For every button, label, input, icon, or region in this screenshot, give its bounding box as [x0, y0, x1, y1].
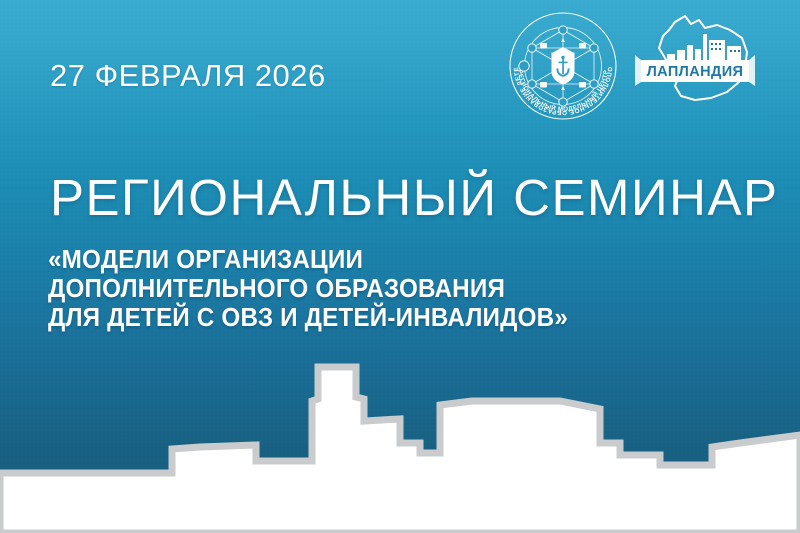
- regional-model-center-logo: ДОПОЛНИТЕЛЬНОЕ ОБРАЗОВАНИЕ ДЕТЕЙ РЕГИОНА…: [509, 12, 617, 120]
- subtitle-line-3: ДЛЯ ДЕТЕЙ С ОВЗ И ДЕТЕЙ-ИНВАЛИДОВ»: [48, 304, 568, 333]
- event-date: 27 ФЕВРАЛЯ 2026: [50, 58, 326, 94]
- lapland-building-graphic: [667, 34, 741, 60]
- skyline-shape: [0, 367, 800, 533]
- lapland-logo: ЛАПЛАНДИЯ: [635, 12, 755, 108]
- city-skyline-silhouette: [0, 343, 800, 533]
- subtitle-line-1: «МОДЕЛИ ОРГАНИЗАЦИИ: [48, 246, 568, 275]
- subtitle-line-2: ДОПОЛНИТЕЛЬНОГО ОБРАЗОВАНИЯ: [48, 275, 568, 304]
- page-title: РЕГИОНАЛЬНЫЙ СЕМИНАР: [50, 168, 779, 227]
- seminar-topic: «МОДЕЛИ ОРГАНИЗАЦИИ ДОПОЛНИТЕЛЬНОГО ОБРА…: [48, 246, 568, 333]
- logo-group: ДОПОЛНИТЕЛЬНОЕ ОБРАЗОВАНИЕ ДЕТЕЙ РЕГИОНА…: [509, 12, 755, 120]
- rmc-anchor-shield-emblem: [552, 47, 574, 84]
- seminar-announcement-poster: 27 ФЕВРАЛЯ 2026 ДОПОЛНИТЕЛЬНОЕ ОБРАЗОВАН…: [0, 0, 800, 533]
- lapland-banner-label: ЛАПЛАНДИЯ: [647, 64, 744, 80]
